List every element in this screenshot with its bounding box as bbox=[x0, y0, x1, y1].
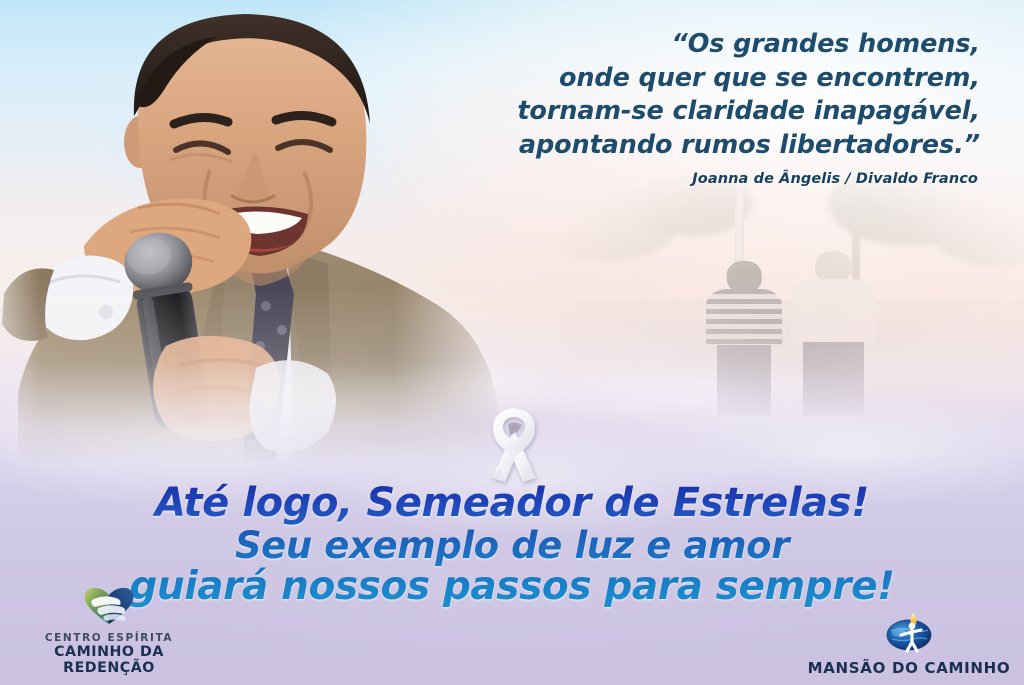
logo-mansao-do-caminho: MANSÃO DO CAMINHO bbox=[802, 611, 1016, 677]
quote-block: “Os grandes homens, onde quer que se enc… bbox=[420, 28, 980, 163]
quote-attribution: Joanna de Ângelis / Divaldo Franco bbox=[692, 171, 978, 187]
logo-right-line-2: MANSÃO DO CAMINHO bbox=[802, 660, 1016, 677]
logo-left-line-2: CAMINHO DA REDENÇÃO bbox=[6, 645, 212, 677]
globe-figure-flame-icon bbox=[802, 611, 1016, 657]
heart-hands-icon bbox=[6, 586, 212, 630]
background-scene-photo bbox=[556, 176, 1024, 426]
quote-line-2: onde quer que se encontrem, bbox=[420, 62, 980, 96]
quote-line-3: tornam-se claridade inapagável, bbox=[420, 95, 980, 129]
logo-centro-espirita-caminho-da-redencao: CENTRO ESPÍRITA CAMINHO DA REDENÇÃO bbox=[6, 586, 212, 677]
quote-line-1: “Os grandes homens, bbox=[420, 28, 980, 62]
white-mourning-ribbon-icon bbox=[479, 404, 549, 486]
memorial-poster: “Os grandes homens, onde quer que se enc… bbox=[0, 0, 1024, 685]
headline-line-1: Até logo, Semeador de Estrelas! bbox=[0, 482, 1024, 526]
quote-line-4: apontando rumos libertadores.” bbox=[420, 129, 980, 163]
headline-line-2: Seu exemplo de luz e amor bbox=[0, 526, 1024, 567]
